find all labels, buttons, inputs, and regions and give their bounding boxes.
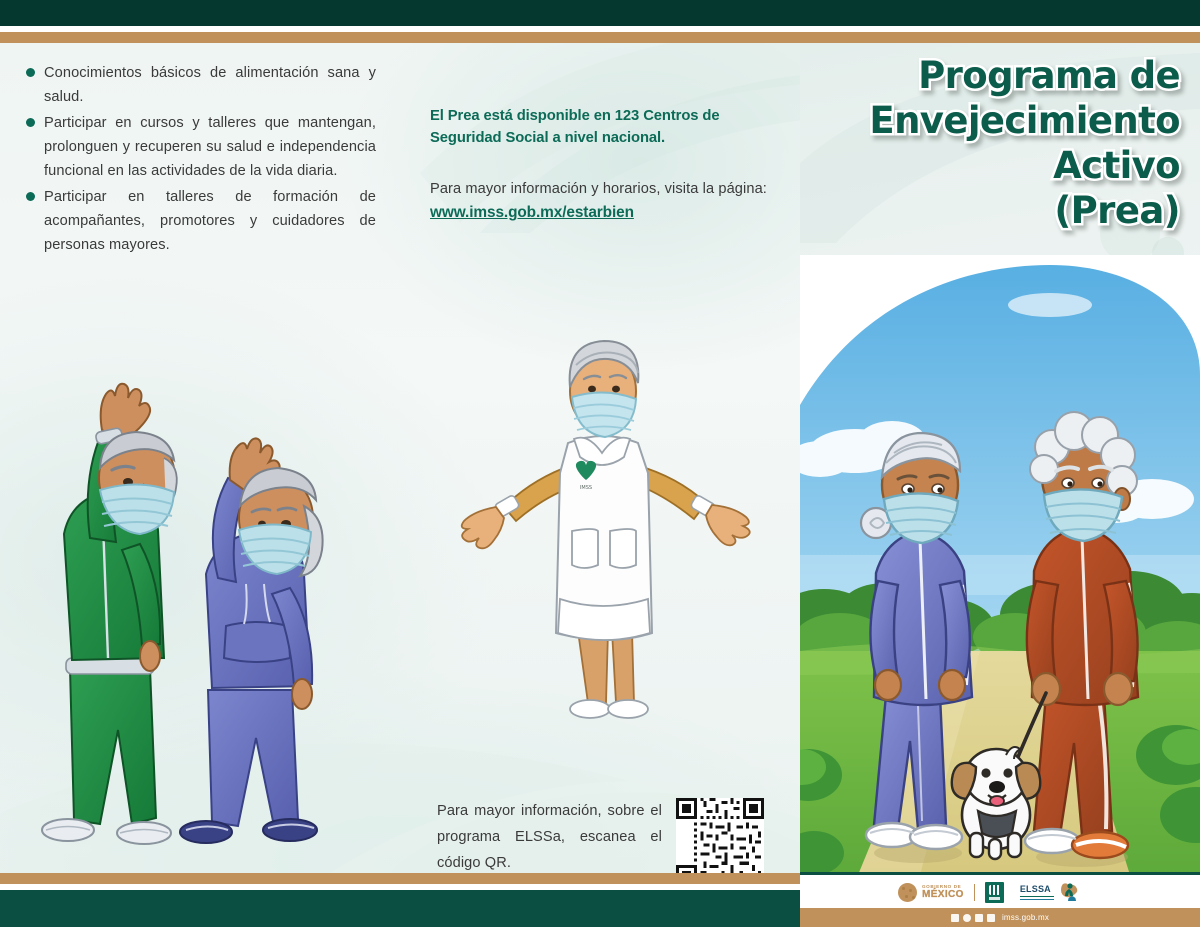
instagram-icon[interactable]	[975, 914, 983, 922]
bullet-text: Conocimientos básicos de alimentación sa…	[44, 61, 376, 109]
illustration-nurse: IMSS	[400, 313, 800, 733]
elssa-rule-2	[1020, 899, 1054, 901]
availability-text-block: El Prea está disponible en 123 Centros d…	[430, 105, 775, 222]
footer-social-strip: imss.gob.mx	[800, 908, 1200, 927]
figure-woman-blue	[180, 438, 323, 843]
title-line-1: Programa de	[810, 53, 1180, 98]
availability-headline: El Prea está disponible en 123 Centros d…	[430, 105, 775, 149]
logo-strip: GOBIERNO DE MÉXICO ELSSA	[800, 877, 1200, 908]
bottom-green-bar	[0, 890, 800, 927]
logo-imss	[985, 882, 1004, 903]
main-content-area: Conocimientos básicos de alimentación sa…	[0, 43, 800, 873]
logo-divider	[974, 884, 975, 901]
bullet-text: Participar en talleres de formación de a…	[44, 185, 376, 257]
svg-text:IMSS: IMSS	[580, 485, 592, 491]
qr-info-block: Para mayor información, sobre el program…	[437, 798, 767, 873]
gob-wordmark: GOBIERNO DE MÉXICO	[922, 885, 964, 900]
footer-url[interactable]: imss.gob.mx	[1002, 913, 1049, 922]
gob-seal-icon	[898, 883, 917, 902]
youtube-icon[interactable]	[987, 914, 995, 922]
elssa-name-text: ELSSA	[1020, 885, 1054, 894]
title-line-3: Activo	[810, 143, 1180, 188]
benefits-bullet-list: Conocimientos básicos de alimentación sa…	[26, 61, 376, 259]
logo-gobierno-de-mexico: GOBIERNO DE MÉXICO	[898, 883, 964, 902]
website-link[interactable]: www.imss.gob.mx/estarbien	[430, 204, 775, 222]
logo-elssa: ELSSA	[1020, 882, 1081, 903]
bottom-tan-strip	[0, 873, 800, 884]
list-item: Participar en talleres de formación de a…	[26, 185, 376, 257]
illustration-elders-exercising	[40, 338, 380, 873]
list-item: Conocimientos básicos de alimentación sa…	[26, 61, 376, 109]
bullet-dot-icon	[26, 68, 35, 77]
elssa-rule-1	[1020, 896, 1054, 898]
bullet-dot-icon	[26, 118, 35, 127]
twitter-icon[interactable]	[963, 914, 971, 922]
list-item: Participar en cursos y talleres que mant…	[26, 111, 376, 183]
gob-big-text: MÉXICO	[922, 890, 964, 900]
elssa-figure-icon	[1057, 882, 1081, 903]
qr-instruction-text: Para mayor información, sobre el program…	[437, 798, 662, 873]
top-tan-strip	[0, 32, 1200, 43]
brochure-page: Conocimientos básicos de alimentación sa…	[0, 0, 1200, 927]
title-line-2: Envejecimiento	[810, 98, 1180, 143]
more-info-text: Para mayor información y horarios, visit…	[430, 177, 775, 202]
figure-man-green	[42, 384, 177, 844]
page-title: Programa de Envejecimiento Activo (Prea)	[810, 53, 1180, 233]
bullet-dot-icon	[26, 192, 35, 201]
facebook-icon[interactable]	[951, 914, 959, 922]
elssa-wordmark: ELSSA	[1020, 885, 1054, 900]
bullet-text: Participar en cursos y talleres que mant…	[44, 111, 376, 183]
title-line-4: (Prea)	[810, 188, 1180, 233]
top-green-bar	[0, 0, 1200, 26]
qr-code-elssa[interactable]	[676, 798, 764, 873]
illustration-panel-walking	[800, 255, 1200, 875]
title-panel: Programa de Envejecimiento Activo (Prea)	[800, 43, 1200, 283]
park-walking-scene	[800, 255, 1200, 875]
